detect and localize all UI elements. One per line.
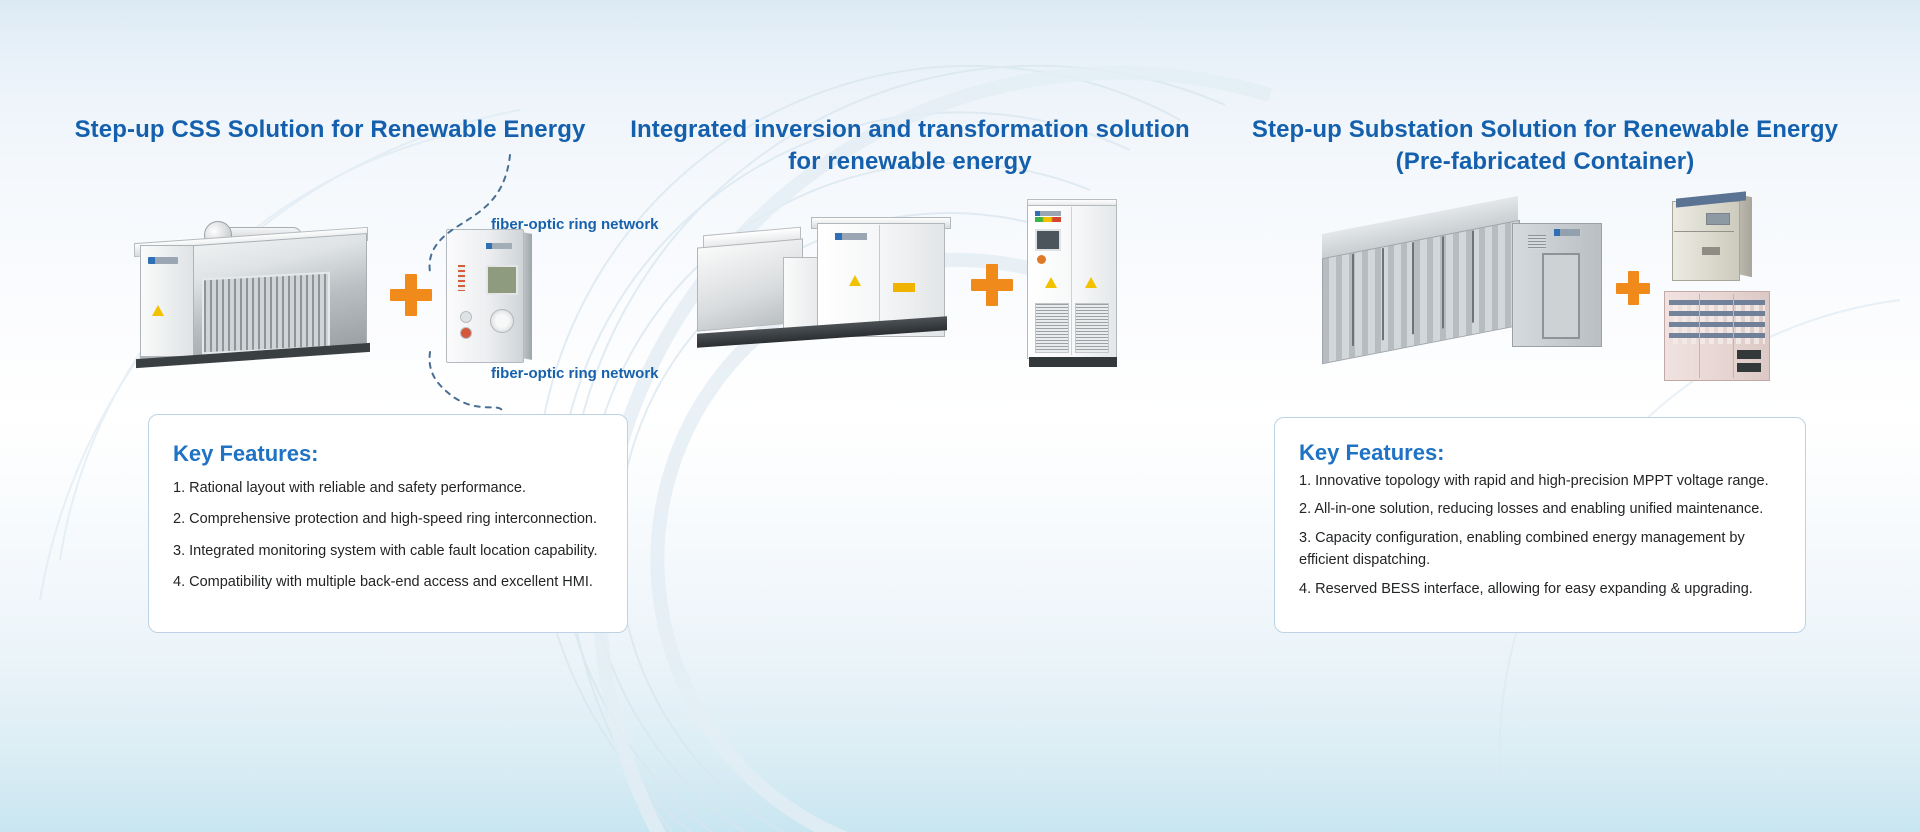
pcs-cabinet-image: [1027, 199, 1123, 371]
prefabricated-container-substation-image: [1322, 205, 1602, 370]
list-item: 2. Comprehensive protection and high-spe…: [173, 508, 607, 530]
switchgear-cubicle-image: [1672, 195, 1752, 279]
plus-icon: [1616, 271, 1650, 305]
compact-secondary-substation-image: [126, 223, 376, 368]
secondary-relay-panels-image: [1664, 291, 1770, 381]
list-item: 4. Compatibility with multiple back-end …: [173, 571, 607, 593]
column-1-title: Step-up CSS Solution for Renewable Energ…: [60, 114, 600, 146]
key-features-card-1: Key Features: 1. Rational layout with re…: [148, 414, 628, 633]
column-2-title: Integrated inversion and transformation …: [630, 114, 1190, 177]
list-item: 1. Rational layout with reliable and saf…: [173, 477, 607, 499]
list-item: 3. Integrated monitoring system with cab…: [173, 540, 607, 562]
plus-icon: [390, 274, 432, 316]
inversion-transformation-station-image: [697, 205, 957, 365]
solution-column-2: Integrated inversion and transformation …: [630, 0, 1190, 832]
card-1-feature-list: 1. Rational layout with reliable and saf…: [149, 467, 627, 594]
column-3-title: Step-up Substation Solution for Renewabl…: [1235, 114, 1855, 177]
secondary-equipment-stack: [1664, 195, 1768, 380]
solution-column-3: Step-up Substation Solution for Renewabl…: [1235, 0, 1855, 832]
protection-relay-panel-image: [446, 229, 534, 361]
column-3-product-row: [1235, 175, 1855, 400]
card-1-title: Key Features:: [149, 415, 627, 467]
solution-column-1: Step-up CSS Solution for Renewable Energ…: [60, 0, 600, 832]
plus-icon: [971, 264, 1013, 306]
slide-root: Step-up CSS Solution for Renewable Energ…: [0, 0, 1920, 832]
column-2-product-row: [630, 175, 1190, 395]
